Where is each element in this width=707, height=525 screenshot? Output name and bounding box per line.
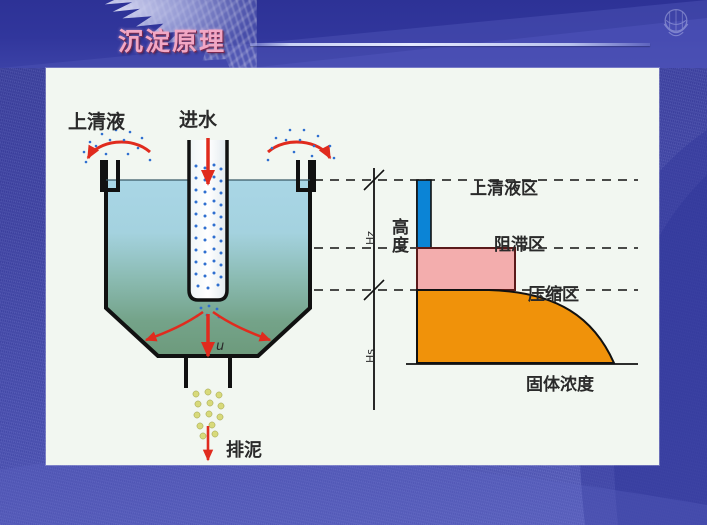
zone-label-hindered: 阻滞区 (494, 235, 545, 255)
institution-emblem-icon (657, 6, 695, 42)
zone-label-compression: 压缩区 (528, 284, 579, 305)
sedimentation-principle-diagram: 上清液 进水 u 排泥 Hz Hs (46, 68, 659, 465)
zone-bar-compression (417, 290, 614, 363)
slide-root: 沉淀原理 (0, 0, 707, 525)
label-influent: 进水 (179, 109, 218, 131)
dimension-label-hs: Hs (364, 349, 377, 363)
zone-chart-group: Hz Hs 高度 上清液区 阻滞区 压缩区 固体浓度 (314, 168, 638, 410)
dimension-label-hz: Hz (364, 231, 377, 245)
tank-group (83, 129, 336, 460)
content-panel: 上清液 进水 u 排泥 Hz Hs (46, 68, 659, 465)
title-underline-rule (250, 43, 650, 46)
header-diagonal-accent (0, 0, 707, 68)
overflow-left (83, 129, 152, 164)
chart-xlabel: 固体浓度 (526, 374, 595, 395)
label-supernatant: 上清液 (68, 110, 126, 133)
zone-label-supernatant: 上清液区 (470, 178, 538, 199)
page-title: 沉淀原理 (118, 22, 226, 58)
label-velocity: u (216, 339, 224, 354)
zone-bar-supernatant (417, 180, 431, 248)
label-sludge-discharge: 排泥 (226, 439, 262, 461)
chart-ylabel: 高度 (388, 217, 409, 254)
tank-hopper-outlet (186, 356, 230, 388)
overflow-right (267, 129, 336, 162)
